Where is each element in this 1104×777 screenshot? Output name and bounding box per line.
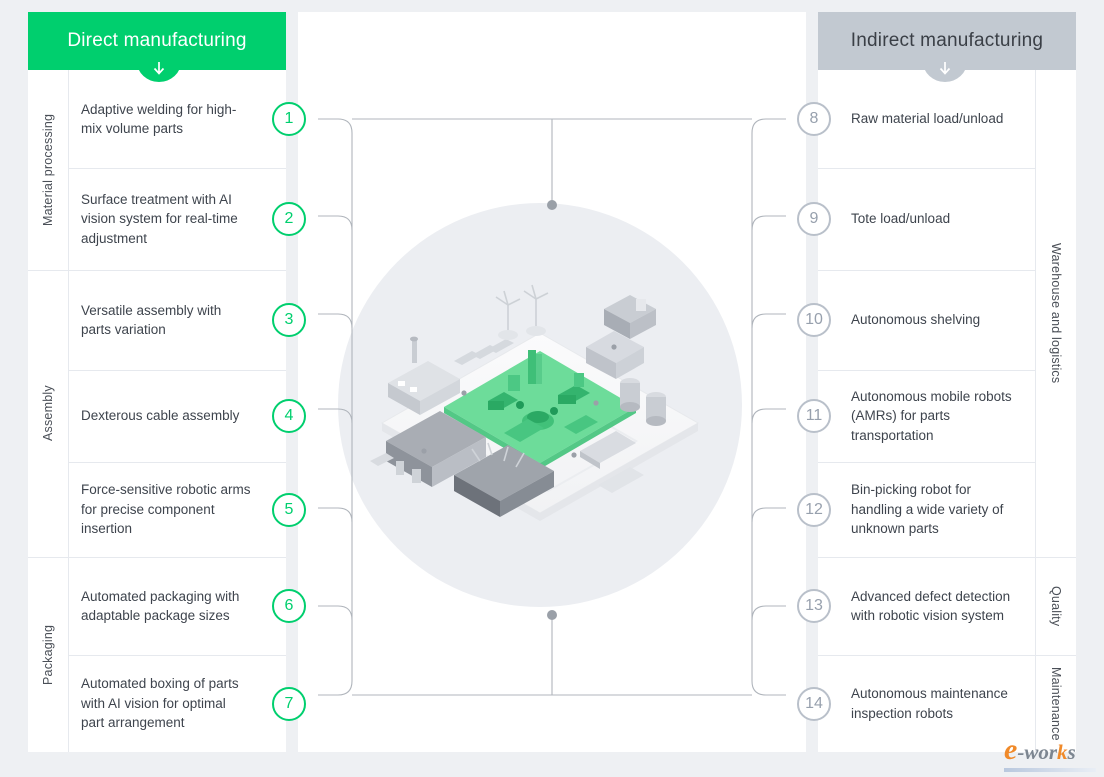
step-badge-6[interactable]: 6 xyxy=(272,589,306,623)
list-item-label: Raw material load/unload xyxy=(818,109,1015,129)
indirect-manufacturing-body: Warehouse and logisticsQualityMaintenanc… xyxy=(818,70,1076,752)
list-item[interactable]: Tote load/unload xyxy=(818,168,1036,270)
logo-s: s xyxy=(1068,740,1076,765)
step-badge-3[interactable]: 3 xyxy=(272,303,306,337)
list-item-label: Dexterous cable assembly xyxy=(68,406,273,426)
row-divider xyxy=(818,370,1036,371)
list-item-label: Adaptive welding for high-mix volume par… xyxy=(68,100,286,139)
list-item[interactable]: Advanced defect detection with robotic v… xyxy=(818,557,1036,655)
list-item[interactable]: Raw material load/unload xyxy=(818,70,1036,168)
step-badge-1[interactable]: 1 xyxy=(272,102,306,136)
category-divider xyxy=(28,557,286,558)
list-item-label: Autonomous shelving xyxy=(818,310,992,330)
category-label-material-processing: Material processing xyxy=(28,70,68,270)
list-item-label: Advanced defect detection with robotic v… xyxy=(818,587,1036,626)
category-label-warehouse-and-logistics: Warehouse and logistics xyxy=(1036,70,1076,557)
row-divider xyxy=(818,462,1036,463)
step-badge-14[interactable]: 14 xyxy=(797,687,831,721)
indirect-manufacturing-title: Indirect manufacturing xyxy=(851,30,1043,52)
isometric-smart-factory-illustration xyxy=(368,255,712,555)
list-item[interactable]: Autonomous mobile robots (AMRs) for part… xyxy=(818,370,1036,462)
indirect-item-rows: Raw material load/unloadTote load/unload… xyxy=(818,70,1036,752)
row-divider xyxy=(68,655,286,656)
step-badge-7[interactable]: 7 xyxy=(272,687,306,721)
list-item[interactable]: Automated boxing of parts with AI vision… xyxy=(68,655,286,752)
indirect-category-rail: Warehouse and logisticsQualityMaintenanc… xyxy=(1035,70,1076,752)
step-badge-8[interactable]: 8 xyxy=(797,102,831,136)
list-item-label: Force-sensitive robotic arms for precise… xyxy=(68,480,286,539)
category-label-assembly: Assembly xyxy=(28,270,68,557)
logo-k: k xyxy=(1057,740,1068,765)
eworks-logo: e -wor k s xyxy=(1004,733,1096,771)
step-badge-4[interactable]: 4 xyxy=(272,399,306,433)
list-item-label: Autonomous mobile robots (AMRs) for part… xyxy=(818,387,1036,446)
category-label-quality: Quality xyxy=(1036,557,1076,655)
direct-item-rows: Adaptive welding for high-mix volume par… xyxy=(68,70,286,752)
category-label-packaging: Packaging xyxy=(28,557,68,752)
list-item[interactable]: Bin-picking robot for handling a wide va… xyxy=(818,462,1036,557)
list-item-label: Tote load/unload xyxy=(818,209,962,229)
step-badge-13[interactable]: 13 xyxy=(797,589,831,623)
step-badge-5[interactable]: 5 xyxy=(272,493,306,527)
category-divider xyxy=(28,270,286,271)
row-divider xyxy=(818,168,1036,169)
list-item[interactable]: Automated packaging with adaptable packa… xyxy=(68,557,286,655)
list-item[interactable]: Dexterous cable assembly xyxy=(68,370,286,462)
step-badge-9[interactable]: 9 xyxy=(797,202,831,236)
category-divider xyxy=(818,655,1076,656)
row-divider xyxy=(68,462,286,463)
row-divider xyxy=(68,168,286,169)
list-item-label: Autonomous maintenance inspection robots xyxy=(818,684,1036,723)
list-item-label: Versatile assembly with parts variation xyxy=(68,301,286,340)
step-badge-11[interactable]: 11 xyxy=(797,399,831,433)
infographic-stage: Direct manufacturing Indirect manufactur… xyxy=(0,0,1104,777)
list-item[interactable]: Force-sensitive robotic arms for precise… xyxy=(68,462,286,557)
step-badge-10[interactable]: 10 xyxy=(797,303,831,337)
list-item-label: Surface treatment with AI vision system … xyxy=(68,190,286,249)
logo-e: e xyxy=(1004,733,1017,767)
list-item-label: Bin-picking robot for handling a wide va… xyxy=(818,480,1036,539)
direct-manufacturing-body: Material processingAssemblyPackaging Ada… xyxy=(28,70,286,752)
step-badge-12[interactable]: 12 xyxy=(797,493,831,527)
direct-manufacturing-title: Direct manufacturing xyxy=(67,30,246,52)
list-item-label: Automated boxing of parts with AI vision… xyxy=(68,674,286,733)
list-item-label: Automated packaging with adaptable packa… xyxy=(68,587,286,626)
row-divider xyxy=(818,270,1036,271)
row-divider xyxy=(68,370,286,371)
logo-wor: -wor xyxy=(1017,740,1057,765)
list-item[interactable]: Adaptive welding for high-mix volume par… xyxy=(68,70,286,168)
logo-underbar xyxy=(1004,768,1096,772)
list-item[interactable]: Autonomous shelving xyxy=(818,270,1036,370)
category-divider xyxy=(818,557,1076,558)
direct-category-rail: Material processingAssemblyPackaging xyxy=(28,70,69,752)
step-badge-2[interactable]: 2 xyxy=(272,202,306,236)
list-item[interactable]: Surface treatment with AI vision system … xyxy=(68,168,286,270)
list-item[interactable]: Versatile assembly with parts variation xyxy=(68,270,286,370)
